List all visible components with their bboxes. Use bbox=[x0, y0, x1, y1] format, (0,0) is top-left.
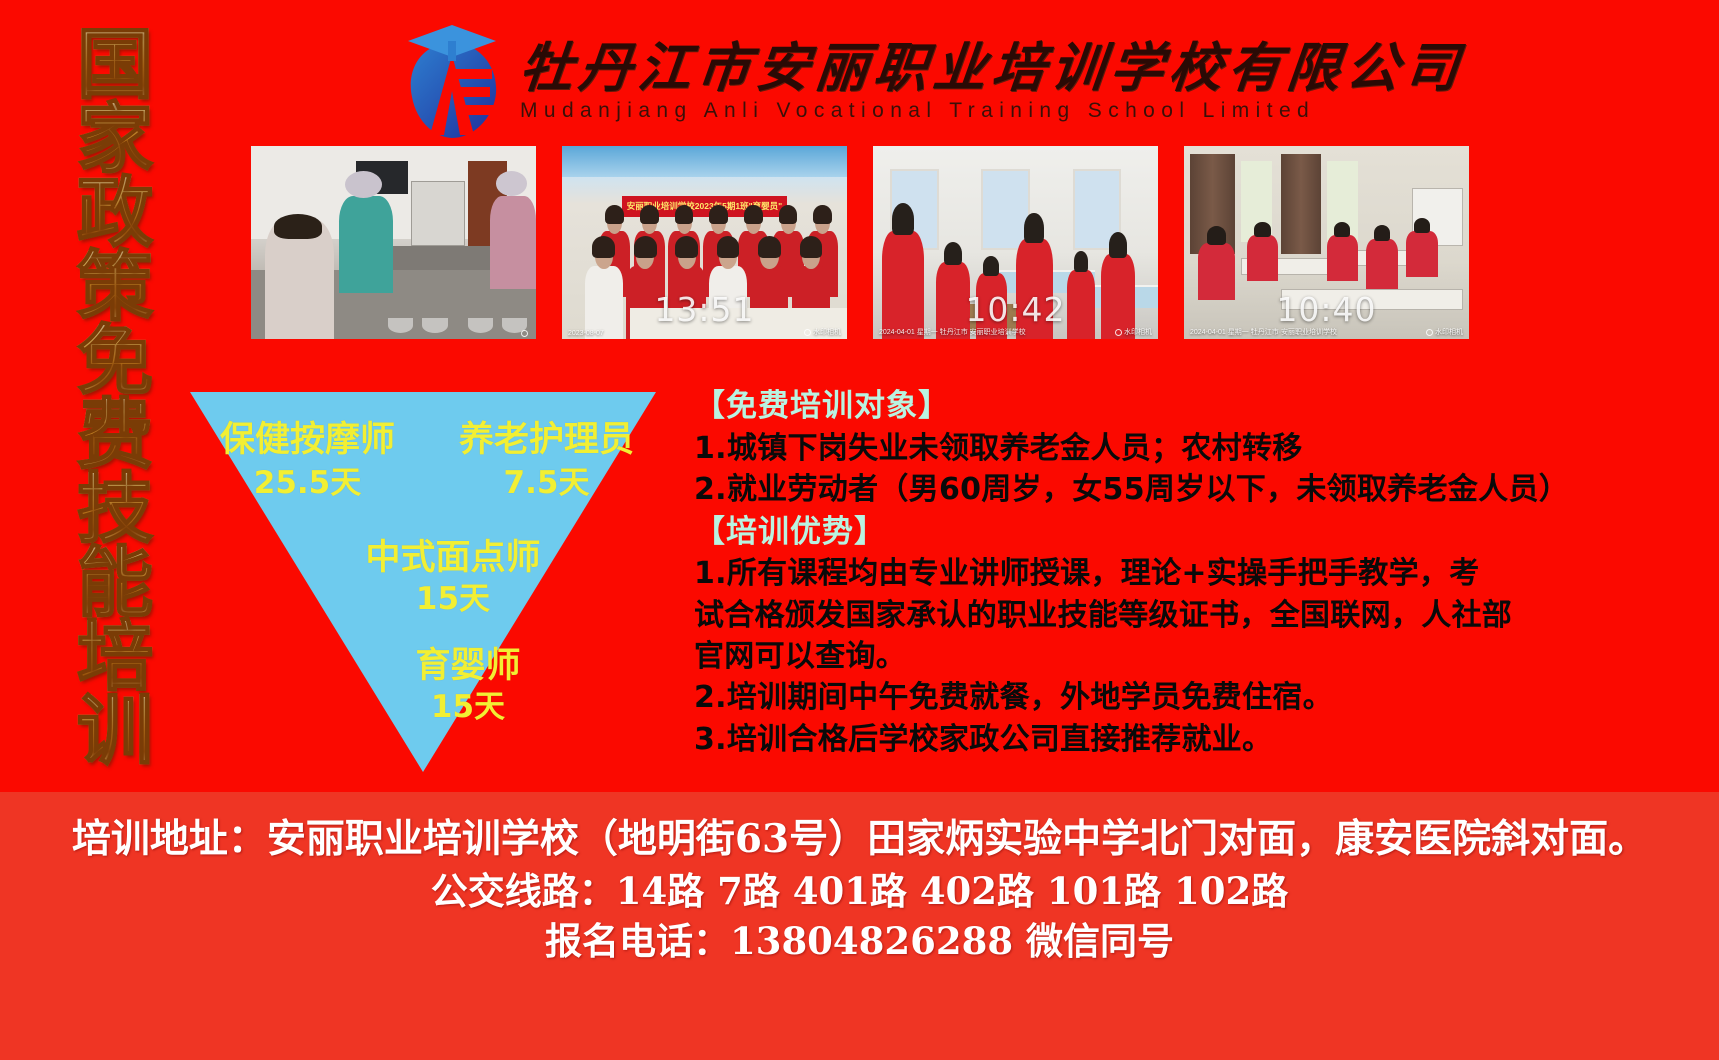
vertical-title-char: 国 bbox=[77, 28, 153, 102]
photo-watermark: 水印相机 bbox=[804, 327, 841, 337]
photo-timestamp: 10:40 bbox=[1184, 290, 1469, 329]
info-line: 2.就业劳动者（男60周岁，女55周岁以下，未领取养老金人员） bbox=[694, 469, 1704, 510]
photo-meta: 2024-04-01 星期一 牡丹江市 安丽职业培训学校 水印相机 bbox=[879, 327, 1152, 337]
info-line: 2.培训期间中午免费就餐，外地学员免费住宿。 bbox=[694, 677, 1704, 718]
photo-watermark-label: 水印相机 bbox=[813, 327, 841, 337]
course-item-eldercare[interactable]: 养老护理员 7.5天 bbox=[459, 422, 634, 499]
info-line: 官网可以查询。 bbox=[694, 636, 1704, 677]
photo-pastry-class[interactable] bbox=[251, 146, 536, 339]
footer: 培训地址：安丽职业培训学校（地明街63号）田家炳实验中学北门对面，康安医院斜对面… bbox=[0, 792, 1719, 1060]
photo-watermark-label: 水印相机 bbox=[1435, 327, 1463, 337]
course-name: 保健按摩师 bbox=[220, 422, 395, 459]
photo-date: 2024-04-01 星期一 牡丹江市·安丽职业培训学校 bbox=[1190, 327, 1337, 337]
vertical-title-char: 免 bbox=[77, 324, 153, 398]
info-section-title-eligibility: 【免费培训对象】 bbox=[694, 385, 1704, 428]
info-line: 3.培训合格后学校家政公司直接推荐就业。 bbox=[694, 719, 1704, 760]
info-line: 1.所有课程均由专业讲师授课，理论+实操手把手教学，考 bbox=[694, 553, 1704, 594]
course-days: 25.5天 bbox=[220, 467, 395, 500]
course-item-massage[interactable]: 保健按摩师 25.5天 bbox=[220, 422, 395, 499]
photo-classroom[interactable]: 10:40 2024-04-01 星期一 牡丹江市·安丽职业培训学校 水印相机 bbox=[1184, 146, 1469, 339]
photo-gallery: 安丽职业培训学校2023年5期1班"育婴员" 13:51 bbox=[251, 146, 1483, 339]
vertical-title-char: 政 bbox=[77, 176, 153, 250]
poster-root: 国 家 政 策 免 费 技 能 培 训 bbox=[0, 0, 1719, 1060]
photo-person bbox=[1327, 235, 1358, 281]
brand-name-cn: 牡丹江市安丽职业培训学校有限公司 bbox=[517, 41, 1467, 97]
photo-detail bbox=[981, 169, 1029, 250]
photo-person bbox=[339, 196, 393, 293]
info-line: 1.城镇下岗失业未领取养老金人员；农村转移 bbox=[694, 428, 1704, 469]
photo-detail bbox=[1281, 154, 1321, 254]
camera-icon bbox=[521, 330, 528, 337]
course-item-pastry[interactable]: 中式面点师 15天 bbox=[250, 540, 656, 615]
photo-meta: 2023-08-07 水印相机 bbox=[568, 327, 841, 337]
course-days: 15天 bbox=[250, 583, 656, 616]
graduation-cap-a-logo-icon bbox=[400, 25, 506, 140]
photo-group-banner[interactable]: 安丽职业培训学校2023年5期1班"育婴员" 13:51 bbox=[562, 146, 847, 339]
vertical-title-char: 策 bbox=[77, 250, 153, 324]
photo-timestamp: 10:42 bbox=[873, 290, 1158, 329]
photo-nursing-practice[interactable]: 10:42 2024-04-01 星期一 牡丹江市 安丽职业培训学校 水印相机 bbox=[873, 146, 1158, 339]
course-triangle: 保健按摩师 25.5天 养老护理员 7.5天 中式面点师 15天 育婴师 15天 bbox=[190, 392, 656, 772]
vertical-title-char: 家 bbox=[77, 102, 153, 176]
photo-detail bbox=[562, 146, 847, 177]
photo-timestamp: 13:51 bbox=[562, 290, 847, 329]
vertical-title-char: 技 bbox=[77, 472, 153, 546]
photo-date: 2023-08-07 bbox=[568, 330, 604, 337]
course-name: 养老护理员 bbox=[459, 422, 634, 459]
photo-person bbox=[1366, 239, 1397, 289]
vertical-title-char: 费 bbox=[77, 398, 153, 472]
footer-bus-routes: 公交线路：14路 7路 401路 402路 101路 102路 bbox=[0, 867, 1719, 915]
photo-watermark-label: 水印相机 bbox=[1124, 327, 1152, 337]
photo-detail bbox=[411, 181, 465, 247]
course-name: 育婴师 bbox=[280, 648, 656, 685]
footer-address: 培训地址：安丽职业培训学校（地明街63号）田家炳实验中学北门对面，康安医院斜对面… bbox=[0, 814, 1719, 865]
info-block: 【免费培训对象】 1.城镇下岗失业未领取养老金人员；农村转移 2.就业劳动者（男… bbox=[694, 385, 1704, 785]
vertical-title-char: 能 bbox=[77, 546, 153, 620]
photo-meta: 2024-04-01 星期一 牡丹江市·安丽职业培训学校 水印相机 bbox=[1190, 327, 1463, 337]
photo-person bbox=[490, 196, 536, 289]
photo-meta bbox=[257, 330, 530, 337]
course-days: 15天 bbox=[280, 691, 656, 724]
course-row-top: 保健按摩师 25.5天 养老护理员 7.5天 bbox=[220, 422, 634, 499]
brand-text: 牡丹江市安丽职业培训学校有限公司 Mudanjiang Anli Vocatio… bbox=[520, 41, 1464, 124]
camera-icon bbox=[804, 329, 811, 336]
info-line: 试合格颁发国家承认的职业技能等级证书，全国联网，人社部 bbox=[694, 595, 1704, 636]
photo-watermark bbox=[521, 330, 530, 337]
photo-watermark: 水印相机 bbox=[1426, 327, 1463, 337]
vertical-title-char: 训 bbox=[77, 694, 153, 768]
photo-watermark: 水印相机 bbox=[1115, 327, 1152, 337]
info-section-title-advantages: 【培训优势】 bbox=[694, 511, 1704, 554]
photo-person bbox=[345, 171, 382, 198]
photo-person bbox=[1406, 231, 1437, 277]
vertical-title: 国 家 政 策 免 费 技 能 培 训 bbox=[60, 28, 170, 768]
course-name: 中式面点师 bbox=[250, 540, 656, 577]
photo-date: 2024-04-01 星期一 牡丹江市 安丽职业培训学校 bbox=[879, 327, 1026, 337]
course-item-infantcare[interactable]: 育婴师 15天 bbox=[280, 648, 656, 723]
vertical-title-char: 培 bbox=[77, 620, 153, 694]
brand-name-en: Mudanjiang Anli Vocational Training Scho… bbox=[520, 99, 1464, 123]
header: 牡丹江市安丽职业培训学校有限公司 Mudanjiang Anli Vocatio… bbox=[400, 22, 1300, 142]
camera-icon bbox=[1115, 329, 1122, 336]
camera-icon bbox=[1426, 329, 1433, 336]
photo-person bbox=[1247, 235, 1278, 281]
footer-phone[interactable]: 报名电话：13804826288 微信同号 bbox=[0, 917, 1719, 965]
course-days: 7.5天 bbox=[459, 467, 634, 500]
photo-person bbox=[274, 214, 322, 239]
